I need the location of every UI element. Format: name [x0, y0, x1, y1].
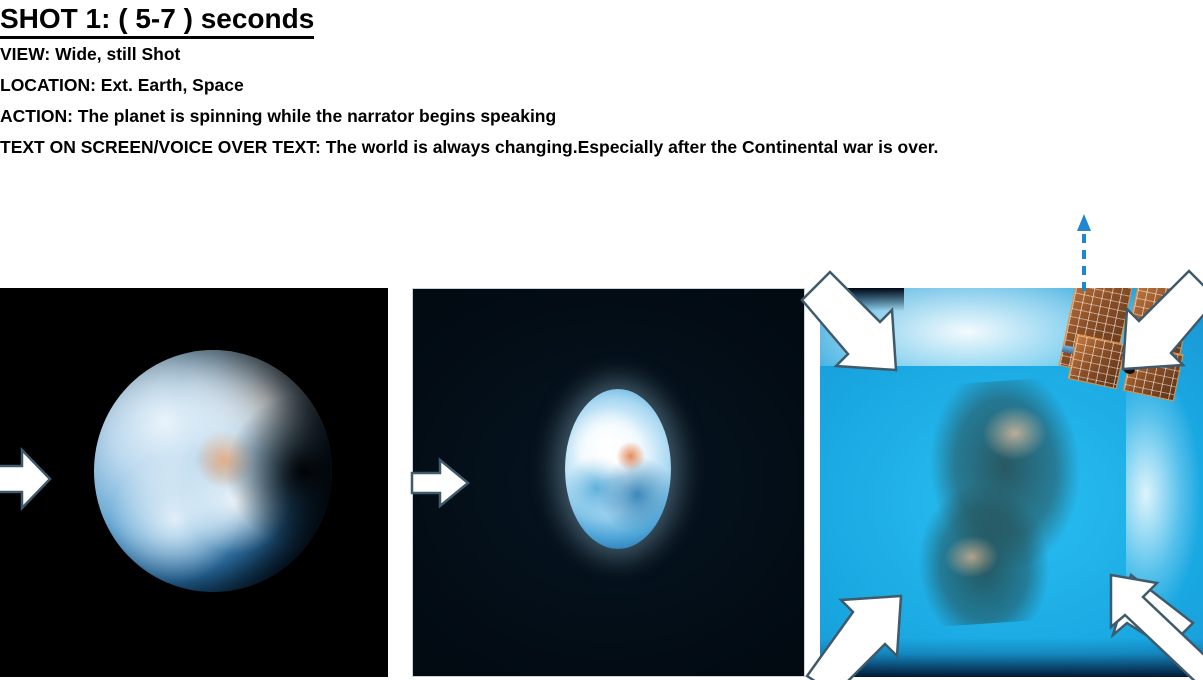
arrow-right-icon [410, 455, 470, 511]
arrow-up-left-icon [1095, 557, 1203, 679]
location-line: LOCATION: Ext. Earth, Space [0, 70, 1203, 101]
arrow-down-right-icon [816, 286, 914, 384]
landmass [896, 375, 1111, 629]
arrow-up-right-icon [819, 572, 919, 680]
earth-globe-gibbous [94, 350, 332, 592]
view-line: VIEW: Wide, still Shot [0, 39, 1203, 70]
storyboard-panel-row [0, 288, 1203, 677]
storyboard-panel-2 [412, 288, 805, 677]
arrow-up-dashed-icon [1072, 214, 1096, 296]
earth-globe-small [565, 389, 671, 549]
shot-description-block: SHOT 1: ( 5-7 ) seconds VIEW: Wide, stil… [0, 0, 1203, 163]
page-title: SHOT 1: ( 5-7 ) seconds [0, 0, 314, 39]
arrow-right-icon [0, 442, 52, 516]
arrow-down-left-icon [1107, 285, 1203, 383]
action-line: ACTION: The planet is spinning while the… [0, 101, 1203, 132]
storyboard-panel-1 [0, 288, 388, 677]
text-on-screen-line: TEXT ON SCREEN/VOICE OVER TEXT: The worl… [0, 132, 1190, 163]
page-title-wrapper: SHOT 1: ( 5-7 ) seconds [0, 0, 1203, 39]
